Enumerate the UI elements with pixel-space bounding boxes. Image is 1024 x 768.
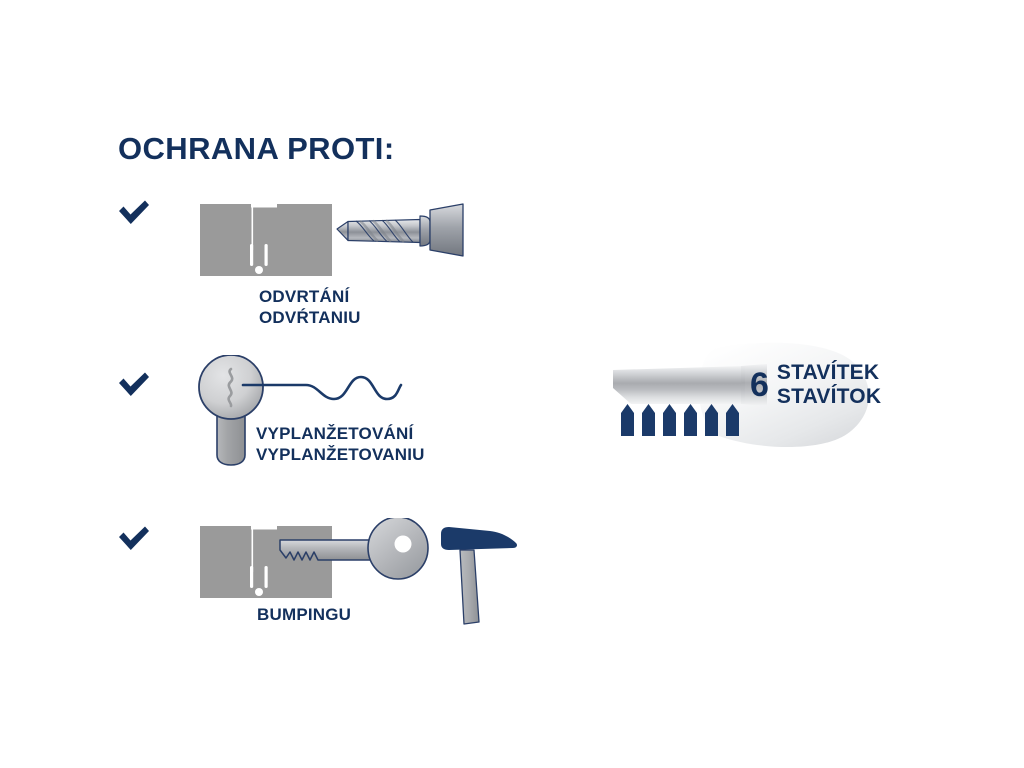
lock-cylinder-body — [200, 526, 332, 598]
slide-canvas: OCHRANA PROTI: — [0, 0, 1024, 768]
drill-bit-icon — [337, 204, 463, 256]
lock-cylinder-body — [200, 204, 332, 276]
bumping-protection-illustration — [198, 518, 538, 638]
caption-line-sk: ODVŔTANIU — [259, 307, 361, 328]
pin-label-sk: STAVÍTOK — [777, 385, 881, 409]
key-pin — [642, 404, 655, 436]
caption-line-cs: ODVRTÁNÍ — [259, 286, 361, 307]
caption-line-cs: VYPLANŽETOVÁNÍ — [256, 423, 425, 444]
hammer-icon — [441, 527, 517, 624]
checkmark-icon — [117, 370, 151, 400]
pin-count-number: 6 — [750, 368, 769, 402]
checkmark-icon — [117, 524, 151, 554]
feature-caption-picking: VYPLANŽETOVÁNÍ VYPLANŽETOVANIU — [256, 423, 425, 466]
feature-caption-bumping: BUMPINGU — [257, 604, 351, 625]
key-pin — [684, 404, 697, 436]
key-pin — [621, 404, 634, 436]
cylinder-head — [199, 355, 263, 419]
feature-caption-drilling: ODVRTÁNÍ ODVŔTANIU — [259, 286, 361, 329]
drilling-protection-illustration — [198, 196, 498, 291]
caption-line-sk: VYPLANŽETOVANIU — [256, 444, 425, 465]
checkmark-icon — [117, 198, 151, 228]
key-pins-badge: 6 STAVÍTEK STAVÍTOK — [595, 340, 915, 455]
caption-line-cs: BUMPINGU — [257, 604, 351, 625]
key-blade — [613, 366, 745, 404]
lockpick-wire — [243, 377, 401, 399]
page-title: OCHRANA PROTI: — [118, 133, 395, 164]
pin-label-cs: STAVÍTEK — [777, 361, 881, 385]
key-pin — [663, 404, 676, 436]
